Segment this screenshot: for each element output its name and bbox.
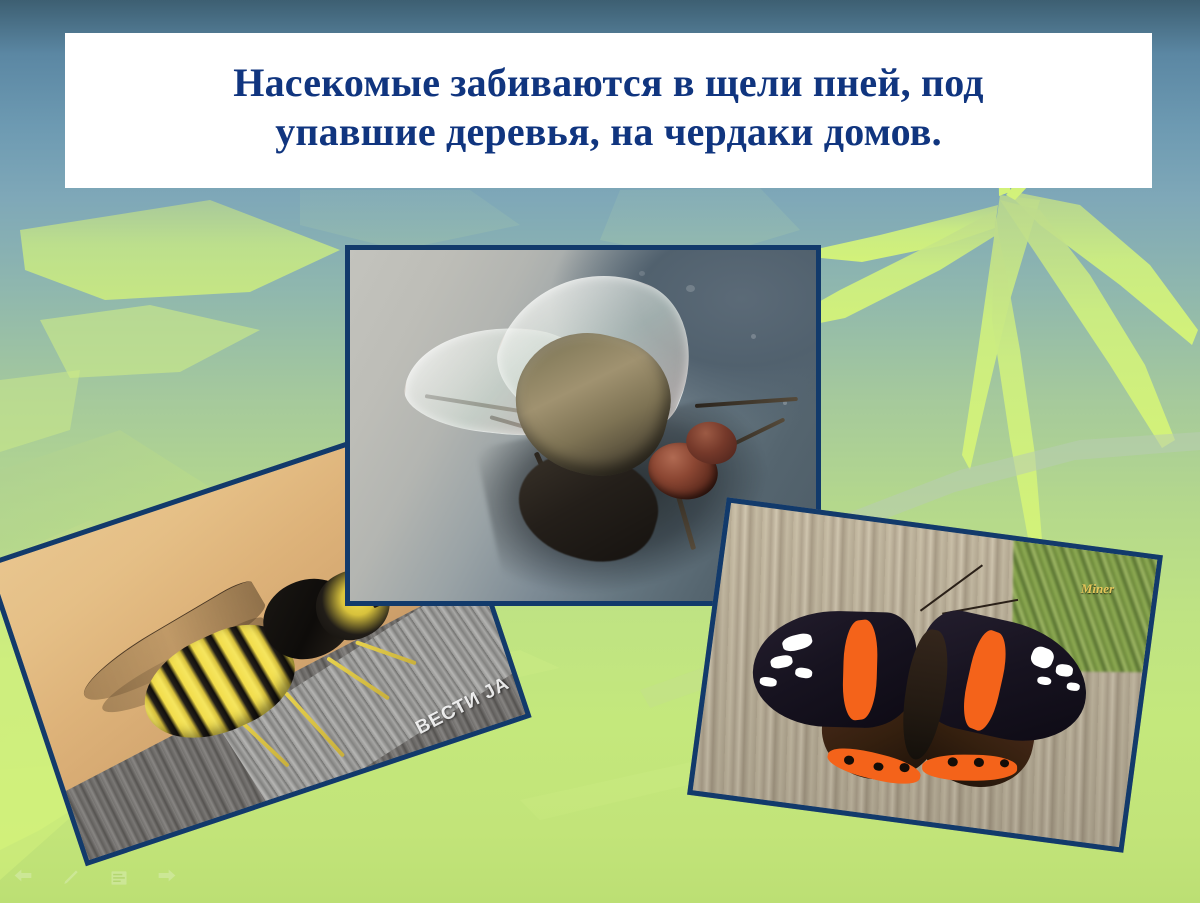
presentation-controls (10, 867, 180, 889)
arrow-right-icon (155, 868, 179, 888)
pen-tool-button[interactable] (58, 867, 84, 889)
previous-slide-button[interactable] (10, 867, 36, 889)
photo-butterfly-content: Miner (693, 503, 1158, 847)
photo-butterfly[interactable]: Miner (687, 497, 1163, 853)
butterfly-watermark: Miner (1081, 581, 1114, 597)
title-plate: Насекомые забиваются в щели пней, под уп… (65, 33, 1152, 188)
pen-icon (60, 868, 82, 888)
next-slide-button[interactable] (154, 867, 180, 889)
slide-title: Насекомые забиваются в щели пней, под уп… (233, 59, 983, 157)
presentation-slide: Насекомые забиваются в щели пней, под уп… (0, 0, 1200, 903)
slide-menu-button[interactable] (106, 867, 132, 889)
menu-icon (108, 868, 130, 888)
butterfly-orange-margin-right (922, 754, 1017, 781)
arrow-left-icon (11, 868, 35, 888)
